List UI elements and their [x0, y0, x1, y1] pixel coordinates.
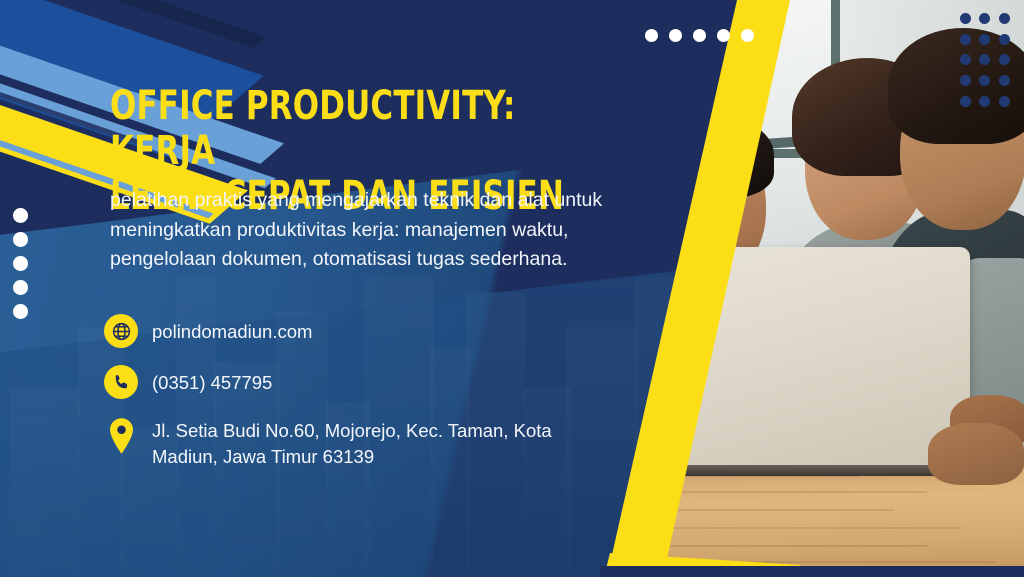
grid-dot — [979, 75, 990, 86]
contact-website[interactable]: polindomadiun.com — [104, 314, 664, 348]
website-value: polindomadiun.com — [152, 314, 312, 345]
contact-address[interactable]: Jl. Setia Budi No.60, Mojorejo, Kec. Tam… — [104, 416, 664, 471]
contact-phone[interactable]: (0351) 457795 — [104, 365, 664, 399]
decorative-dot — [741, 29, 754, 42]
grid-dot — [999, 13, 1010, 24]
grid-dot — [999, 34, 1010, 45]
wood-grain-line — [670, 491, 927, 493]
grid-dot — [979, 96, 990, 107]
phone-value: (0351) 457795 — [152, 365, 272, 396]
grid-dot — [979, 13, 990, 24]
grid-dot — [999, 96, 1010, 107]
contact-list: polindomadiun.com (0351) 457795 Jl — [104, 314, 664, 488]
grid-dot — [960, 96, 971, 107]
globe-icon — [104, 314, 138, 348]
promotional-banner: OFFICE PRODUCTIVITY: KERJA LEBIH CEPAT D… — [0, 0, 1024, 577]
grid-dot — [960, 54, 971, 65]
grid-dot — [960, 13, 971, 24]
content-panel: OFFICE PRODUCTIVITY: KERJA LEBIH CEPAT D… — [0, 0, 700, 577]
dot-grid-pattern — [956, 8, 1014, 112]
decorative-dot — [717, 29, 730, 42]
grid-dot — [999, 54, 1010, 65]
map-pin-icon — [104, 416, 138, 456]
person-right-hand-lower — [928, 423, 1024, 485]
wood-grain-line — [670, 527, 961, 529]
grid-dot — [979, 34, 990, 45]
grid-dot — [999, 75, 1010, 86]
address-value: Jl. Setia Budi No.60, Mojorejo, Kec. Tam… — [152, 416, 552, 471]
grid-dot — [979, 54, 990, 65]
grid-dot — [960, 75, 971, 86]
description-text: pelatihan praktis yang mengajarkan tekni… — [110, 186, 690, 275]
phone-icon — [104, 365, 138, 399]
grid-dot — [960, 34, 971, 45]
